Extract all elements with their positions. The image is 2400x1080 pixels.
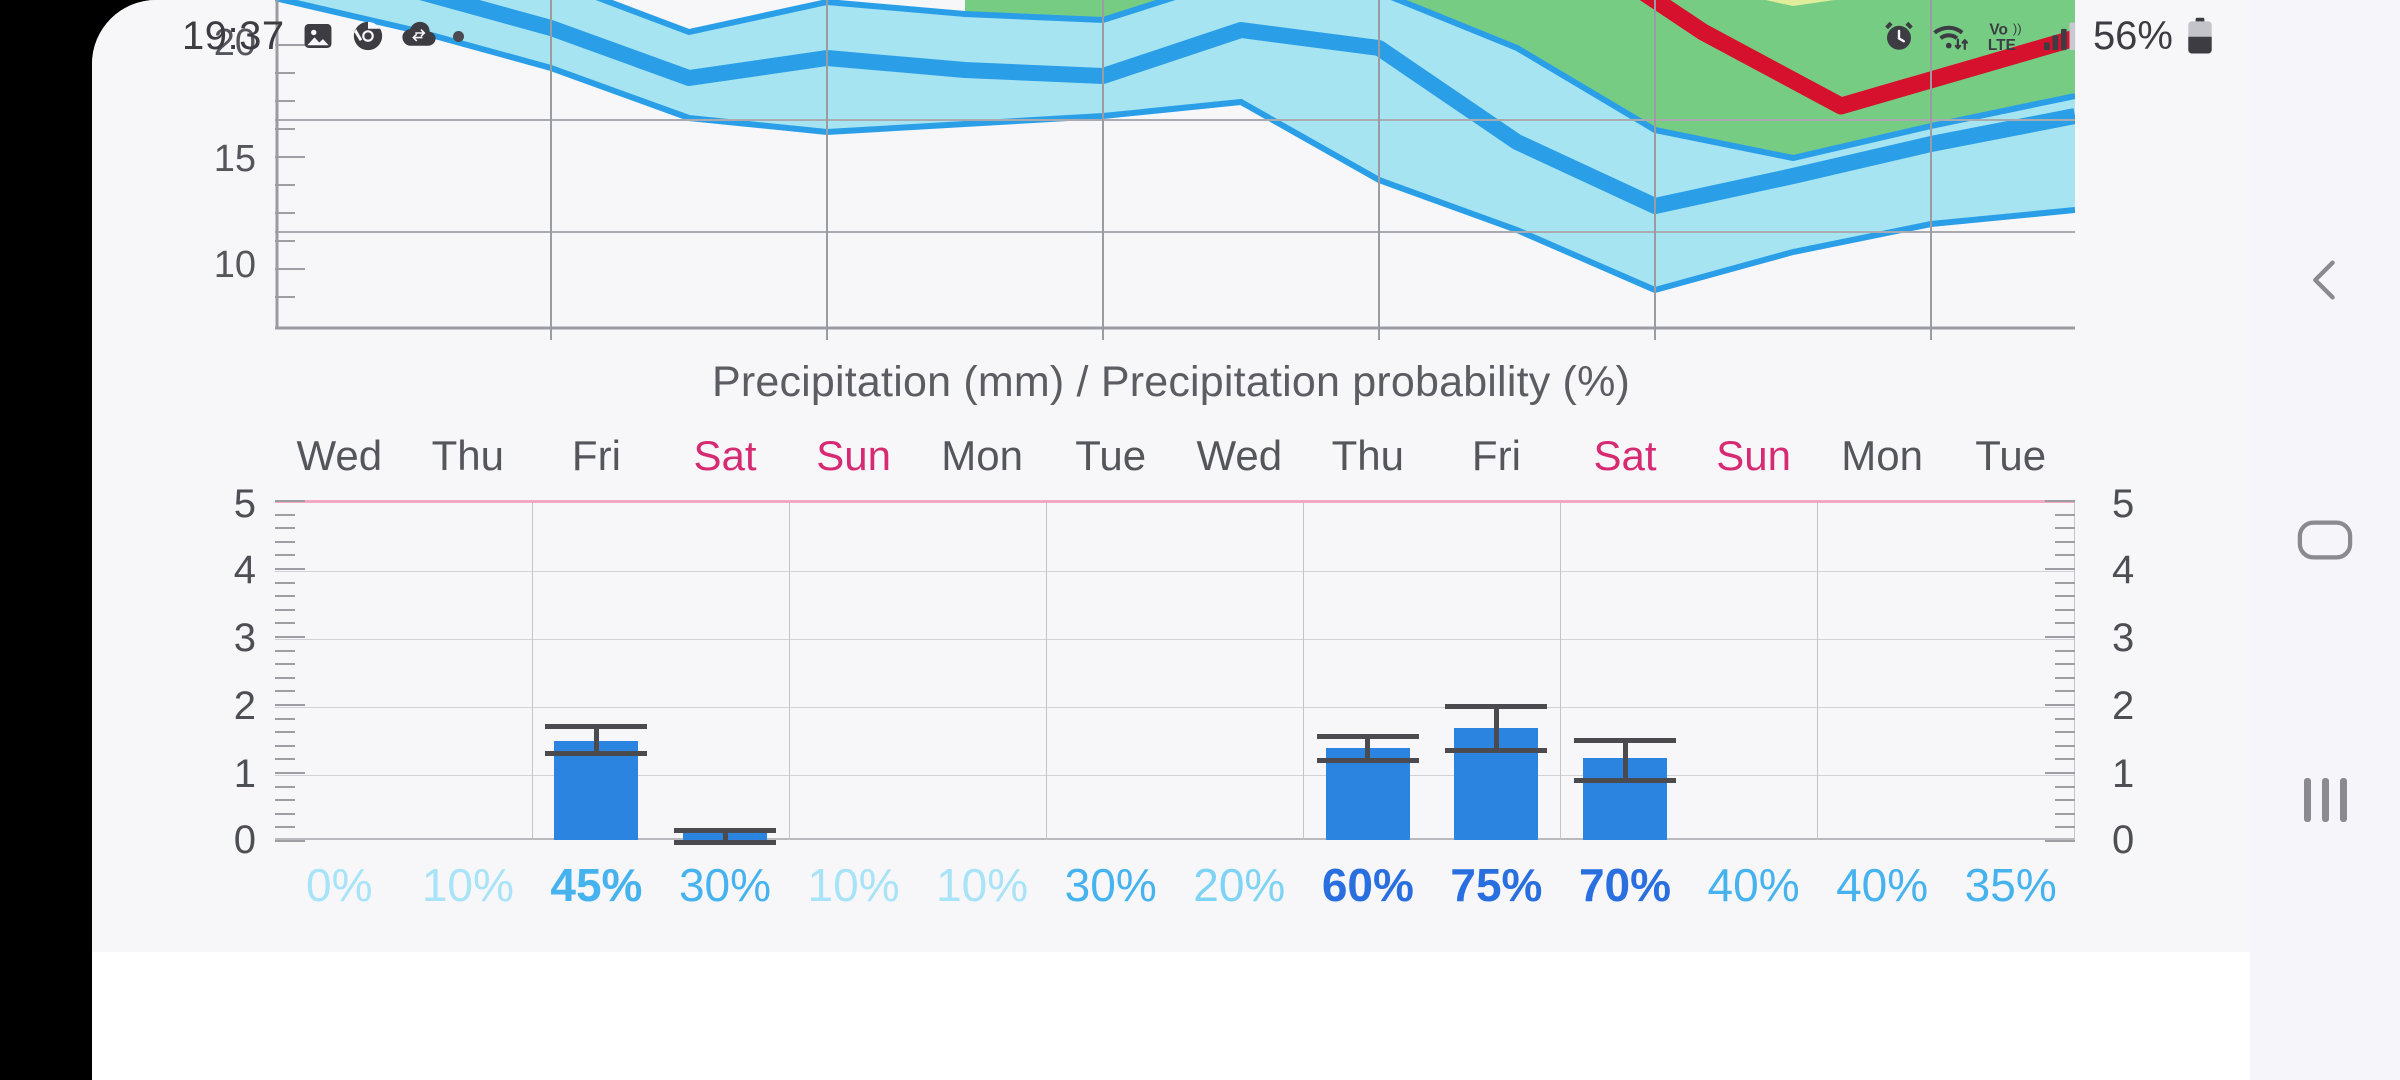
precipitation-probability-13: 35% — [1882, 850, 2139, 920]
weather-charts-scroll-area[interactable]: 20 15 10 — [92, 0, 2250, 952]
axis-tick — [275, 704, 305, 706]
phone-screenshot: 19:37 Vo))LT — [0, 0, 2400, 1080]
axis-tick — [2055, 527, 2075, 529]
precipitation-bars-layer — [275, 503, 2075, 840]
axis-tick — [275, 799, 295, 801]
axis-tick — [275, 772, 305, 774]
temp-axis-label-20: 20 — [172, 22, 256, 65]
axis-tick — [2055, 663, 2075, 665]
axis-tick — [275, 663, 295, 665]
precipitation-chart[interactable]: Precipitation (mm) / Precipitation proba… — [92, 340, 2250, 952]
day-labels-row: WedThuFriSatSunMonTueWedThuFriSatSunMonT… — [92, 428, 2250, 484]
temp-axis-label-15: 15 — [172, 138, 256, 181]
axis-tick — [2055, 718, 2075, 720]
axis-tick — [275, 786, 295, 788]
android-nav-bar — [2250, 0, 2400, 1080]
day-label-13: Tue — [1882, 428, 2139, 484]
axis-tick — [2045, 636, 2075, 638]
axis-tick — [275, 500, 305, 502]
axis-tick — [2055, 582, 2075, 584]
axis-tick — [275, 595, 295, 597]
precipitation-error-bar-10 — [275, 503, 2075, 840]
home-icon[interactable] — [2275, 490, 2375, 590]
screen-bezel-left — [0, 0, 92, 1080]
axis-tick — [275, 636, 305, 638]
temp-axis-label-10: 10 — [172, 244, 256, 287]
precipitation-probability-row: 0%10%45%30%10%10%30%20%60%75%70%40%40%35… — [92, 850, 2250, 920]
axis-tick — [2055, 799, 2075, 801]
temperature-plot-svg — [275, 0, 2075, 340]
axis-tick — [2055, 514, 2075, 516]
weather-app-surface: 19:37 Vo))LT — [92, 0, 2250, 1080]
axis-tick — [2055, 731, 2075, 733]
axis-tick — [2055, 826, 2075, 828]
axis-tick — [275, 609, 295, 611]
precipitation-plot-area[interactable] — [275, 500, 2075, 840]
axis-tick — [2045, 772, 2075, 774]
axis-tick — [2045, 568, 2075, 570]
axis-tick — [275, 677, 295, 679]
axis-tick — [275, 840, 305, 842]
back-icon[interactable] — [2275, 230, 2375, 330]
app-bottom-strip — [92, 952, 2250, 1080]
axis-tick — [2055, 813, 2075, 815]
precip-axis-right-ticks — [2045, 500, 2075, 840]
axis-tick — [2055, 745, 2075, 747]
axis-tick — [275, 514, 295, 516]
axis-tick — [2055, 609, 2075, 611]
axis-tick — [2055, 554, 2075, 556]
axis-tick — [275, 758, 295, 760]
axis-tick — [275, 650, 295, 652]
axis-tick — [2055, 650, 2075, 652]
axis-tick — [2045, 840, 2075, 842]
axis-tick — [2055, 622, 2075, 624]
axis-tick — [275, 582, 295, 584]
axis-tick — [275, 554, 295, 556]
axis-tick — [2045, 704, 2075, 706]
temp-axis-ticks — [275, 0, 305, 340]
axis-tick — [2055, 541, 2075, 543]
axis-tick — [275, 826, 295, 828]
axis-tick — [275, 568, 305, 570]
axis-tick — [275, 622, 295, 624]
precipitation-chart-title: Precipitation (mm) / Precipitation proba… — [92, 358, 2250, 407]
axis-tick — [275, 690, 295, 692]
axis-tick — [2055, 595, 2075, 597]
temperature-chart[interactable]: 20 15 10 — [92, 0, 2250, 340]
axis-tick — [2055, 677, 2075, 679]
axis-tick — [275, 813, 295, 815]
axis-tick — [2055, 786, 2075, 788]
axis-tick — [275, 718, 295, 720]
precip-axis-left-labels: 5 4 3 2 1 0 — [172, 500, 256, 840]
axis-tick — [2045, 500, 2075, 502]
axis-tick — [275, 527, 295, 529]
axis-tick — [2055, 758, 2075, 760]
axis-tick — [275, 541, 295, 543]
axis-tick — [2055, 690, 2075, 692]
precip-axis-right-labels: 5 4 3 2 1 0 — [2112, 500, 2196, 840]
axis-tick — [275, 745, 295, 747]
precip-axis-left-ticks — [275, 500, 305, 840]
recents-icon[interactable] — [2275, 750, 2375, 850]
axis-tick — [275, 731, 295, 733]
